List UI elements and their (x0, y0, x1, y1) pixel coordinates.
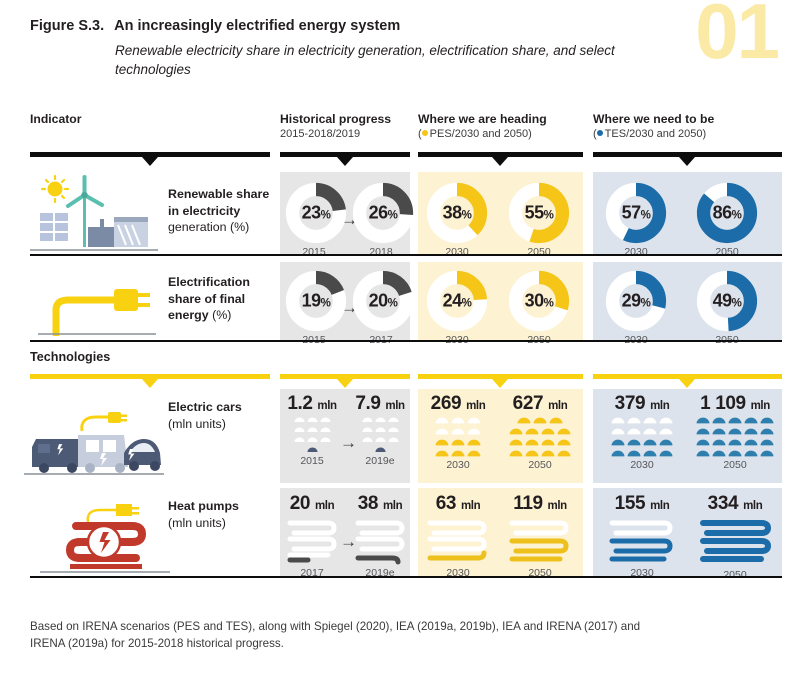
coil-pictogram (506, 517, 574, 565)
table-row: Electrification share of final energy (%… (30, 262, 782, 342)
column-header-title: Indicator (30, 112, 81, 127)
picto-row (307, 445, 318, 453)
picto-row (696, 437, 774, 446)
figure-title-block: Figure S.3. An increasingly electrified … (30, 18, 690, 79)
donut-value: 38% (426, 203, 488, 224)
tes-legend-text: TES/2030 and 2050) (605, 128, 707, 140)
value-pes-0: 63 mln 2030 (422, 493, 494, 579)
picto-row (509, 448, 571, 457)
figure-grid: Indicator Historical progress 2015-2018/… (30, 112, 782, 578)
donut-chart: 49% (696, 270, 758, 332)
coil-pictogram (606, 517, 678, 565)
value-historical-0: 20 mln 2017 (282, 493, 342, 579)
value-historical-1: 7.9 mln (350, 393, 410, 467)
pes-legend-dot (422, 130, 428, 136)
value-pes-0: 38% 2030 (426, 182, 488, 258)
value-year: 2050 (692, 459, 778, 471)
value-year: 2030 (602, 459, 682, 471)
donut-value: 23% (285, 203, 347, 224)
tes-legend-dot (597, 130, 603, 136)
yellow-arrow-heading (492, 379, 508, 388)
picto-row (517, 415, 563, 424)
paren-open: ( (593, 128, 597, 140)
paren-open: ( (418, 128, 422, 140)
row-label-unit: (%) (212, 308, 231, 322)
plug-icon (38, 276, 156, 336)
value-year: 2018 (352, 246, 410, 258)
value-year: 2050 (692, 569, 778, 581)
table-row: Renewable share in electricity generatio… (30, 172, 782, 256)
row-label: Electric cars (mln units) (168, 399, 278, 432)
picto-row (435, 448, 481, 457)
picto-row (435, 426, 481, 435)
coil-pictogram (352, 517, 408, 565)
row-label: Renewable share in electricity generatio… (168, 186, 273, 236)
value-pes-0: 24% 2030 (426, 270, 488, 346)
rule-arrow-historical (337, 157, 353, 166)
row-divider (30, 340, 782, 342)
figure-subtitle: Renewable electricity share in electrici… (115, 42, 645, 79)
rule-arrow-needtobe (679, 157, 695, 166)
column-header-title: Where we need to be (593, 112, 714, 127)
picto-row (294, 415, 331, 423)
donut-value: 49% (696, 291, 758, 312)
donut-chart: 57% (605, 182, 667, 244)
donut-value: 24% (426, 291, 488, 312)
yellow-arrow-needtobe (679, 379, 695, 388)
donut-chart: 29% (605, 270, 667, 332)
row-label-unit: (mln units) (168, 516, 226, 530)
header-rules (30, 152, 782, 165)
picto-row (375, 445, 386, 453)
value-historical-0: 1.2 mln (282, 393, 342, 467)
donut-chart: 86% (696, 182, 758, 244)
value-tes-1: 86% 2050 (696, 182, 758, 258)
yellow-arrow-indicator (142, 379, 158, 388)
pictogram-cars (350, 415, 410, 453)
section-label: Technologies (30, 350, 110, 364)
figure-caption: Based on IRENA scenarios (PES and TES), … (30, 618, 650, 653)
figure-label: Figure S.3. (30, 18, 104, 34)
value-year: 2050 (696, 246, 758, 258)
picto-row (696, 415, 774, 424)
value-number: 379 mln (602, 393, 682, 415)
value-year: 2050 (508, 246, 570, 258)
row-label: Heat pumps (mln units) (168, 498, 278, 531)
picto-row (696, 448, 774, 457)
pictogram-cars (422, 415, 494, 457)
value-pes-1: 119 mln 2050 (502, 493, 578, 579)
donut-value: 57% (605, 203, 667, 224)
value-number: 1.2 mln (282, 393, 342, 415)
value-tes-1: 1 109 mln (692, 393, 778, 471)
value-number: 63 mln (422, 493, 494, 515)
picto-row (509, 437, 571, 446)
value-number: 1 109 mln (692, 393, 778, 415)
pes-legend-text: PES/2030 and 2050) (430, 128, 532, 140)
picto-row (696, 426, 774, 435)
donut-value: 30% (508, 291, 570, 312)
picto-row (362, 425, 399, 433)
donut-value: 20% (352, 291, 414, 312)
value-historical-1: 20% 2017 (352, 270, 410, 346)
value-year: 2015 (285, 246, 343, 258)
row-label-main: Electrification share of final energy (168, 275, 250, 322)
donut-chart: 30% (508, 270, 570, 332)
picto-row (294, 435, 331, 443)
picto-row (611, 415, 673, 424)
rule-arrow-heading (492, 157, 508, 166)
column-headers: Indicator Historical progress 2015-2018/… (30, 112, 782, 152)
renewables-icon (30, 175, 158, 253)
coil-pictogram (284, 517, 340, 565)
value-number: 7.9 mln (350, 393, 410, 415)
column-header-subtitle: (PES/2030 and 2050) (418, 128, 547, 140)
value-year: 2015 (282, 455, 342, 467)
pictogram-cars (692, 415, 778, 457)
value-historical-0: 23% 2015 (285, 182, 343, 258)
row-label-main: Electric cars (168, 400, 242, 414)
value-tes-0: 57% 2030 (605, 182, 667, 258)
donut-chart: 20% (352, 270, 414, 332)
value-historical-1: 38 mln 2019e (350, 493, 410, 579)
value-historical-1: 26% 2018 (352, 182, 410, 258)
value-number: 20 mln (282, 493, 342, 515)
value-pes-1: 55% 2050 (508, 182, 570, 258)
page-number-watermark: 01 (695, 0, 778, 70)
value-historical-0: 19% 2015 (285, 270, 343, 346)
coil-pictogram (695, 517, 775, 567)
value-number: 155 mln (602, 493, 682, 515)
donut-chart: 26% (352, 182, 414, 244)
column-header-title: Where we are heading (418, 112, 547, 127)
donut-value: 86% (696, 203, 758, 224)
value-number: 38 mln (350, 493, 410, 515)
table-row: Electric cars (mln units) 1.2 mln (30, 389, 782, 483)
column-header-historical: Historical progress 2015-2018/2019 (280, 112, 391, 140)
value-pes-1: 627 mln (502, 393, 578, 471)
column-header-subtitle: 2015-2018/2019 (280, 128, 391, 140)
value-year: 2019e (350, 455, 410, 467)
column-header-title: Historical progress (280, 112, 391, 127)
table-row: Heat pumps (mln units) 20 mln 2017 → 38 … (30, 488, 782, 578)
picto-row (435, 437, 481, 446)
pictogram-cars (502, 415, 578, 457)
value-year: 2030 (422, 459, 494, 471)
picto-row (362, 435, 399, 443)
donut-chart: 38% (426, 182, 488, 244)
donut-chart: 24% (426, 270, 488, 332)
pictogram-cars (602, 415, 682, 457)
value-year: 2030 (426, 246, 488, 258)
value-year: 2030 (605, 246, 667, 258)
coil-pictogram (424, 517, 492, 565)
value-pes-1: 30% 2050 (508, 270, 570, 346)
donut-chart: 23% (285, 182, 347, 244)
row-divider (30, 254, 782, 256)
column-header-heading: Where we are heading (PES/2030 and 2050) (418, 112, 547, 140)
value-tes-0: 155 mln 2030 (602, 493, 682, 579)
value-year: 2050 (502, 459, 578, 471)
row-label-main: Heat pumps (168, 499, 239, 513)
value-tes-0: 29% 2030 (605, 270, 667, 346)
value-tes-1: 49% 2050 (696, 270, 758, 346)
electric-cars-icon (24, 409, 164, 479)
picto-row (611, 426, 673, 435)
figure-title: An increasingly electrified energy syste… (114, 18, 400, 34)
value-number: 269 mln (422, 393, 494, 415)
row-label-unit: generation (%) (168, 220, 249, 234)
car-glyph (307, 445, 318, 453)
picto-row (362, 415, 399, 423)
donut-chart: 55% (508, 182, 570, 244)
donut-value: 55% (508, 203, 570, 224)
picto-row (435, 415, 481, 424)
row-label-main: Renewable share in electricity (168, 187, 269, 218)
column-header-subtitle: (TES/2030 and 2050) (593, 128, 714, 140)
donut-value: 19% (285, 291, 347, 312)
donut-chart: 19% (285, 270, 347, 332)
pictogram-cars (282, 415, 342, 453)
picto-row (611, 448, 673, 457)
value-number: 119 mln (502, 493, 578, 515)
yellow-arrow-historical (337, 379, 353, 388)
row-label: Electrification share of final energy (%… (168, 274, 273, 324)
picto-row (509, 426, 571, 435)
value-number: 627 mln (502, 393, 578, 415)
rule-arrow-indicator (142, 157, 158, 166)
heat-pump-icon (40, 496, 170, 574)
value-number: 334 mln (692, 493, 778, 515)
row-label-unit: (mln units) (168, 417, 226, 431)
donut-value: 26% (352, 203, 414, 224)
row-divider (30, 576, 782, 578)
value-tes-1: 334 mln 2050 (692, 493, 778, 581)
value-pes-0: 269 mln (422, 393, 494, 471)
value-tes-0: 379 mln (602, 393, 682, 471)
picto-row (294, 425, 331, 433)
picto-row (611, 437, 673, 446)
donut-value: 29% (605, 291, 667, 312)
column-header-indicator: Indicator (30, 112, 81, 127)
column-header-needtobe: Where we need to be (TES/2030 and 2050) (593, 112, 714, 140)
section-header-technologies: Technologies (30, 350, 782, 384)
